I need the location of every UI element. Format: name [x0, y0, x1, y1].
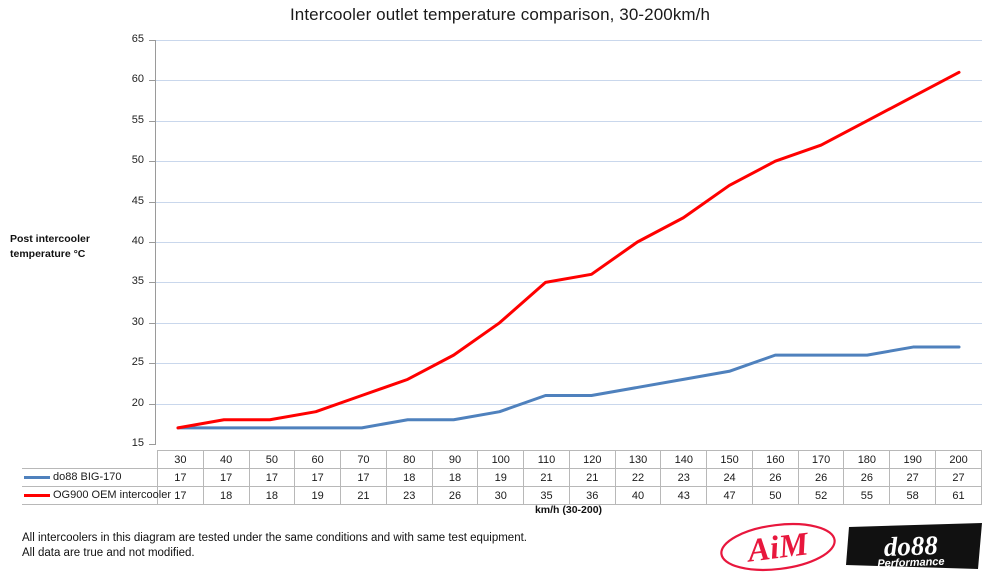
table-cell: 18 [432, 469, 478, 487]
table-cell: 40 [615, 487, 661, 505]
x-axis-title: km/h (30-200) [155, 504, 982, 516]
table-column-header: 90 [432, 451, 478, 469]
table-column-header: 160 [752, 451, 798, 469]
y-tick-label: 15 [104, 437, 144, 449]
table-column-header: 80 [386, 451, 432, 469]
table-header-row: 3040506070809010011012013014015016017018… [22, 451, 982, 469]
y-tick-mark [149, 40, 155, 41]
table-column-header: 140 [661, 451, 707, 469]
table-cell: 22 [615, 469, 661, 487]
y-tick-label: 55 [104, 114, 144, 126]
table-cell: 17 [203, 469, 249, 487]
table-cell: 52 [798, 487, 844, 505]
legend-swatch [24, 494, 50, 497]
table-cell: 21 [341, 487, 387, 505]
data-table: 3040506070809010011012013014015016017018… [22, 450, 982, 505]
y-tick-mark [149, 80, 155, 81]
table-cell: 30 [478, 487, 524, 505]
y-tick-mark [149, 161, 155, 162]
legend-label: OG900 OEM intercooler [53, 490, 171, 502]
table-column-header: 120 [569, 451, 615, 469]
series-lines [155, 40, 982, 444]
table-cell: 23 [386, 487, 432, 505]
y-tick-mark [149, 323, 155, 324]
y-tick-mark [149, 404, 155, 405]
table-corner-cell [22, 451, 158, 469]
table-cell: 26 [798, 469, 844, 487]
table-cell: 17 [341, 469, 387, 487]
y-tick-label: 20 [104, 397, 144, 409]
table-cell: 19 [295, 487, 341, 505]
table-column-header: 150 [707, 451, 753, 469]
table-column-header: 190 [890, 451, 936, 469]
table-column-header: 30 [158, 451, 204, 469]
table-cell: 17 [249, 469, 295, 487]
table-column-header: 200 [936, 451, 982, 469]
table-column-header: 130 [615, 451, 661, 469]
footer-note: All intercoolers in this diagram are tes… [22, 531, 527, 561]
y-tick-label: 50 [104, 154, 144, 166]
legend-entry: OG900 OEM intercooler [22, 487, 158, 505]
table-column-header: 60 [295, 451, 341, 469]
y-tick-mark [149, 444, 155, 445]
table-cell: 27 [936, 469, 982, 487]
y-tick-label: 65 [104, 33, 144, 45]
svg-text:AiM: AiM [744, 526, 812, 570]
table-column-header: 100 [478, 451, 524, 469]
table-column-header: 180 [844, 451, 890, 469]
table-cell: 26 [432, 487, 478, 505]
y-tick-mark [149, 363, 155, 364]
table-cell: 50 [752, 487, 798, 505]
do88-logo: do88 Performance [845, 521, 985, 573]
table-cell: 21 [569, 469, 615, 487]
svg-text:Performance: Performance [877, 556, 945, 570]
aim-logo: AiM [718, 521, 838, 573]
table-cell: 26 [844, 469, 890, 487]
table-cell: 17 [295, 469, 341, 487]
y-axis-line [155, 40, 156, 445]
table-cell: 36 [569, 487, 615, 505]
y-tick-label: 25 [104, 356, 144, 368]
table-cell: 35 [524, 487, 570, 505]
footer-line-2: All data are true and not modified. [22, 546, 527, 561]
table-column-header: 40 [203, 451, 249, 469]
table-column-header: 50 [249, 451, 295, 469]
plot-area [155, 40, 982, 444]
y-tick-label: 45 [104, 195, 144, 207]
chart-title: Intercooler outlet temperature compariso… [0, 5, 1000, 25]
table-cell: 55 [844, 487, 890, 505]
table-cell: 47 [707, 487, 753, 505]
table-cell: 18 [203, 487, 249, 505]
legend-entry: do88 BIG-170 [22, 469, 158, 487]
series-line [178, 72, 959, 428]
legend-swatch [24, 476, 50, 479]
table-cell: 61 [936, 487, 982, 505]
table-cell: 58 [890, 487, 936, 505]
y-tick-label: 35 [104, 275, 144, 287]
table-cell: 23 [661, 469, 707, 487]
footer-line-1: All intercoolers in this diagram are tes… [22, 531, 527, 546]
y-tick-mark [149, 202, 155, 203]
y-tick-label: 40 [104, 235, 144, 247]
table-cell: 27 [890, 469, 936, 487]
table-cell: 18 [386, 469, 432, 487]
y-tick-label: 60 [104, 73, 144, 85]
y-tick-mark [149, 282, 155, 283]
table-cell: 17 [158, 469, 204, 487]
table-cell: 26 [752, 469, 798, 487]
legend-label: do88 BIG-170 [53, 472, 122, 484]
y-tick-label: 30 [104, 316, 144, 328]
table-column-header: 170 [798, 451, 844, 469]
table-column-header: 110 [524, 451, 570, 469]
table-cell: 24 [707, 469, 753, 487]
table-cell: 18 [249, 487, 295, 505]
y-tick-mark [149, 121, 155, 122]
y-tick-mark [149, 242, 155, 243]
table-cell: 43 [661, 487, 707, 505]
table-cell: 19 [478, 469, 524, 487]
table-row: OG900 OEM intercooler1718181921232630353… [22, 487, 982, 505]
table-cell: 21 [524, 469, 570, 487]
table-column-header: 70 [341, 451, 387, 469]
table-row: do88 BIG-1701717171717181819212122232426… [22, 469, 982, 487]
